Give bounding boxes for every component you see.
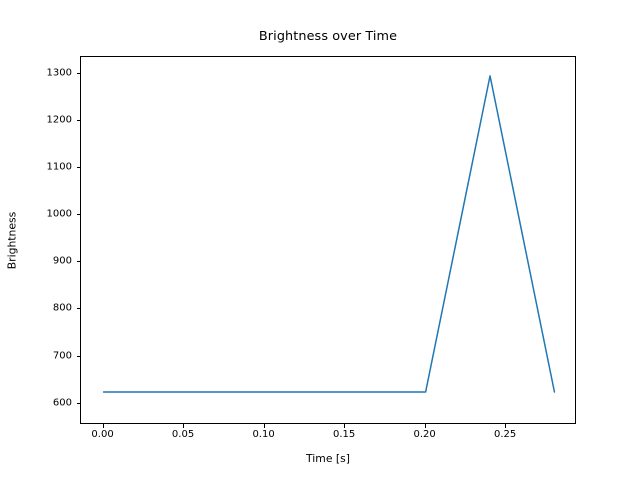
- y-tick-label-text: 900: [53, 256, 72, 267]
- y-axis-label-text: Brightness: [6, 211, 19, 269]
- y-tick-label-text: 1200: [47, 114, 72, 125]
- chart-title: Brightness over Time: [0, 29, 640, 44]
- x-tick-label: 0.05: [172, 429, 194, 440]
- x-tick-mark: [183, 424, 184, 428]
- x-tick-mark: [264, 424, 265, 428]
- brightness-line: [104, 76, 555, 392]
- x-tick-label: 0.00: [91, 429, 113, 440]
- x-tick-label: 0.10: [252, 429, 274, 440]
- y-tick-label-text: 800: [53, 303, 72, 314]
- y-tick-label: 1000: [72, 209, 97, 220]
- y-tick-label: 900: [72, 256, 91, 267]
- y-tick-label: 1200: [72, 114, 97, 125]
- x-axis-label: Time [s]: [80, 452, 576, 465]
- y-tick-label-text: 1000: [47, 209, 72, 220]
- plot-line-svg: [81, 57, 577, 425]
- y-tick-label-text: 1300: [47, 67, 72, 78]
- y-tick-label-text: 1100: [47, 161, 72, 172]
- y-axis-label: Brightness: [0, 56, 24, 424]
- x-tick-mark: [425, 424, 426, 428]
- y-tick-label: 800: [72, 303, 91, 314]
- x-tick-mark: [505, 424, 506, 428]
- x-tick-label: 0.15: [333, 429, 355, 440]
- chart-title-text: Brightness over Time: [259, 29, 397, 44]
- x-tick-mark: [103, 424, 104, 428]
- matplotlib-figure: Brightness over Time 0.000.050.100.150.2…: [0, 0, 640, 480]
- plot-axes: [80, 56, 576, 424]
- x-tick-label: 0.20: [413, 429, 435, 440]
- x-tick-mark: [344, 424, 345, 428]
- x-tick-label: 0.25: [494, 429, 516, 440]
- y-tick-label: 1300: [72, 67, 97, 78]
- y-tick-label: 700: [72, 350, 91, 361]
- y-tick-label: 600: [72, 397, 91, 408]
- y-tick-label-text: 700: [53, 350, 72, 361]
- y-tick-label: 1100: [72, 161, 97, 172]
- y-tick-label-text: 600: [53, 397, 72, 408]
